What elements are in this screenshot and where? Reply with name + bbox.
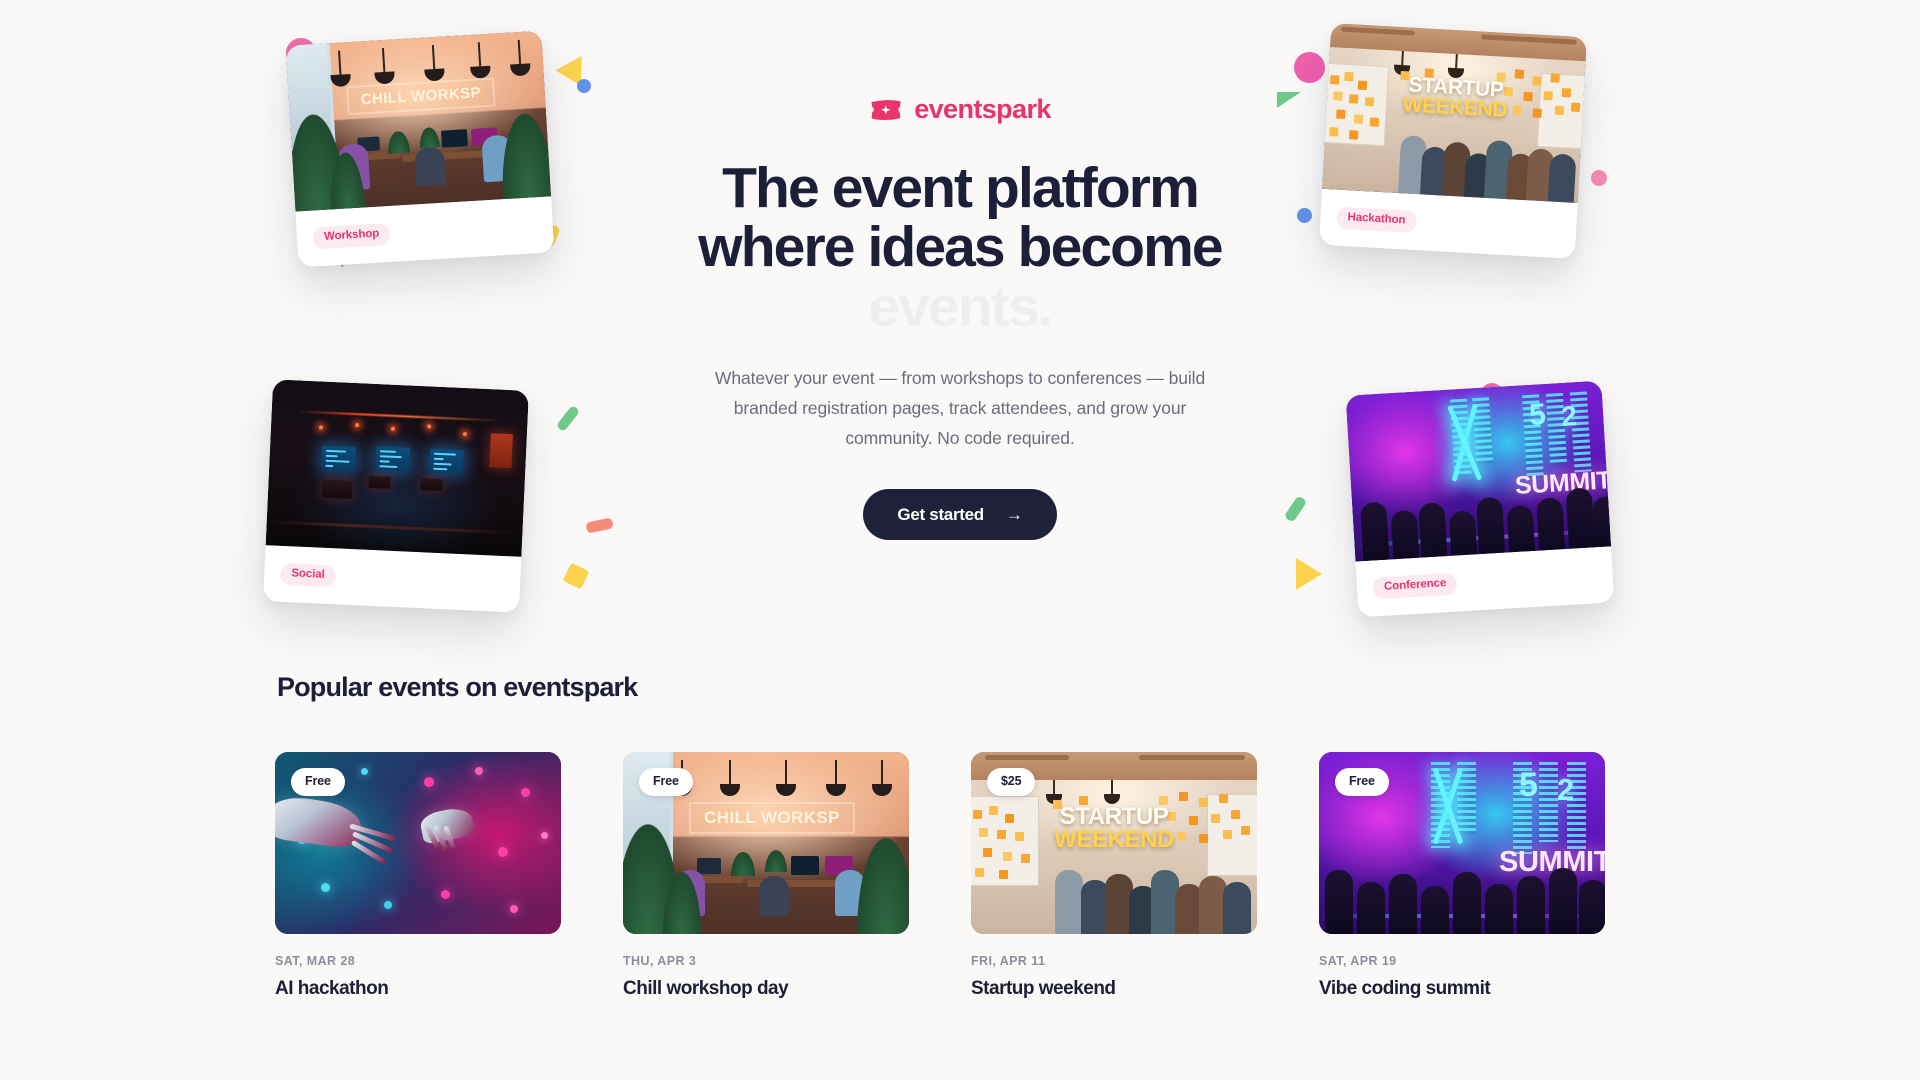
headline-line-2: where ideas become [690, 218, 1230, 277]
price-badge: Free [1335, 768, 1389, 796]
event-card[interactable]: Free CHILL WORKSP [623, 752, 909, 1001]
category-badge: Workshop [312, 223, 390, 250]
scene-stage-title: SUMMIT [1514, 466, 1611, 501]
scene-neon-purple-summit-stage: 5 2 SUMMIT [1346, 381, 1611, 562]
event-card[interactable]: Free 5 2 SUMMIT [1319, 752, 1605, 1001]
scene-dark-neon-computer-room [266, 379, 529, 556]
scene-wall-title: STARTUP WEEKEND [1402, 75, 1509, 121]
event-thumbnail: $25 [971, 752, 1257, 934]
arrow-right-icon: → [1006, 506, 1023, 523]
scene-wall-sign: CHILL WORKSP [346, 77, 495, 115]
event-title: Vibe coding summit [1319, 977, 1605, 1001]
hero-section: CHILL WORKSP Workshop [0, 0, 1920, 672]
decor-dot-blue-2 [1297, 208, 1312, 223]
scene-warm-coworking-loft: CHILL WORKSP [286, 31, 551, 212]
showcase-thumbnail: CHILL WORKSP [286, 31, 551, 212]
showcase-card-hackathon[interactable]: STARTUP WEEKEND Hackathon [1319, 23, 1587, 259]
event-thumbnail: Free 5 2 SUMMIT [1319, 752, 1605, 934]
showcase-card-conference[interactable]: 5 2 SUMMIT Conference [1346, 381, 1615, 618]
event-date: SAT, APR 19 [1319, 954, 1605, 968]
popular-events-section: Popular events on eventspark Free [0, 672, 1920, 1001]
event-title: Startup weekend [971, 977, 1257, 1001]
event-thumbnail: Free CHILL WORKSP [623, 752, 909, 934]
event-date: FRI, APR 11 [971, 954, 1257, 968]
decor-triangle-yellow-2 [1296, 558, 1322, 590]
decor-square-yellow-1 [563, 563, 590, 590]
scene-wall-sign: CHILL WORKSP [689, 802, 855, 834]
headline-line-1: The event platform [690, 159, 1230, 218]
hero-content: eventspark The event platform where idea… [640, 96, 1280, 540]
ticket-sparkle-icon [869, 97, 903, 123]
event-title: Chill workshop day [623, 977, 909, 1001]
decor-triangle-green-2 [1277, 92, 1301, 108]
event-date: SAT, MAR 28 [275, 954, 561, 968]
price-badge: Free [291, 768, 345, 796]
decor-dot-pink-2 [1591, 170, 1607, 186]
category-badge: Hackathon [1336, 206, 1417, 233]
brand-logo[interactable]: eventspark [640, 96, 1280, 123]
event-thumbnail: Free [275, 752, 561, 934]
decor-bar-coral-1 [585, 517, 614, 533]
brand-name: eventspark [914, 96, 1051, 123]
decor-bar-green-1 [556, 405, 581, 432]
get-started-label: Get started [897, 505, 983, 525]
showcase-card-meta: Social [263, 545, 521, 613]
section-title: Popular events on eventspark [275, 672, 1645, 703]
price-badge: $25 [987, 768, 1035, 796]
showcase-thumbnail: STARTUP WEEKEND [1322, 23, 1587, 203]
showcase-thumbnail: 5 2 SUMMIT [1346, 381, 1611, 562]
event-date: THU, APR 3 [623, 954, 909, 968]
headline-line-3: events. [690, 278, 1230, 337]
scene-wall-title: STARTUP WEEKEND [1054, 806, 1174, 852]
showcase-card-workshop[interactable]: CHILL WORKSP Workshop [286, 31, 555, 268]
decor-dot-blue-1 [577, 79, 591, 93]
event-card[interactable]: Free [275, 752, 561, 1001]
landing-page: CHILL WORKSP Workshop [0, 0, 1920, 1080]
event-title: AI hackathon [275, 977, 561, 1001]
category-badge: Social [280, 563, 336, 588]
get-started-button[interactable]: Get started → [863, 489, 1056, 540]
events-grid: Free [275, 752, 1645, 1001]
showcase-card-social[interactable]: Social [263, 379, 529, 612]
hero-headline: The event platform where ideas become ev… [690, 159, 1230, 337]
event-card[interactable]: $25 [971, 752, 1257, 1001]
price-badge: Free [639, 768, 693, 796]
decor-bar-green-2 [1284, 495, 1308, 523]
decor-dot-magenta-1 [1294, 52, 1325, 83]
hero-subheadline: Whatever your event — from workshops to … [704, 363, 1216, 453]
scene-sticky-note-wall-crowd: STARTUP WEEKEND [1322, 23, 1587, 203]
category-badge: Conference [1372, 572, 1457, 599]
showcase-thumbnail [266, 379, 529, 556]
